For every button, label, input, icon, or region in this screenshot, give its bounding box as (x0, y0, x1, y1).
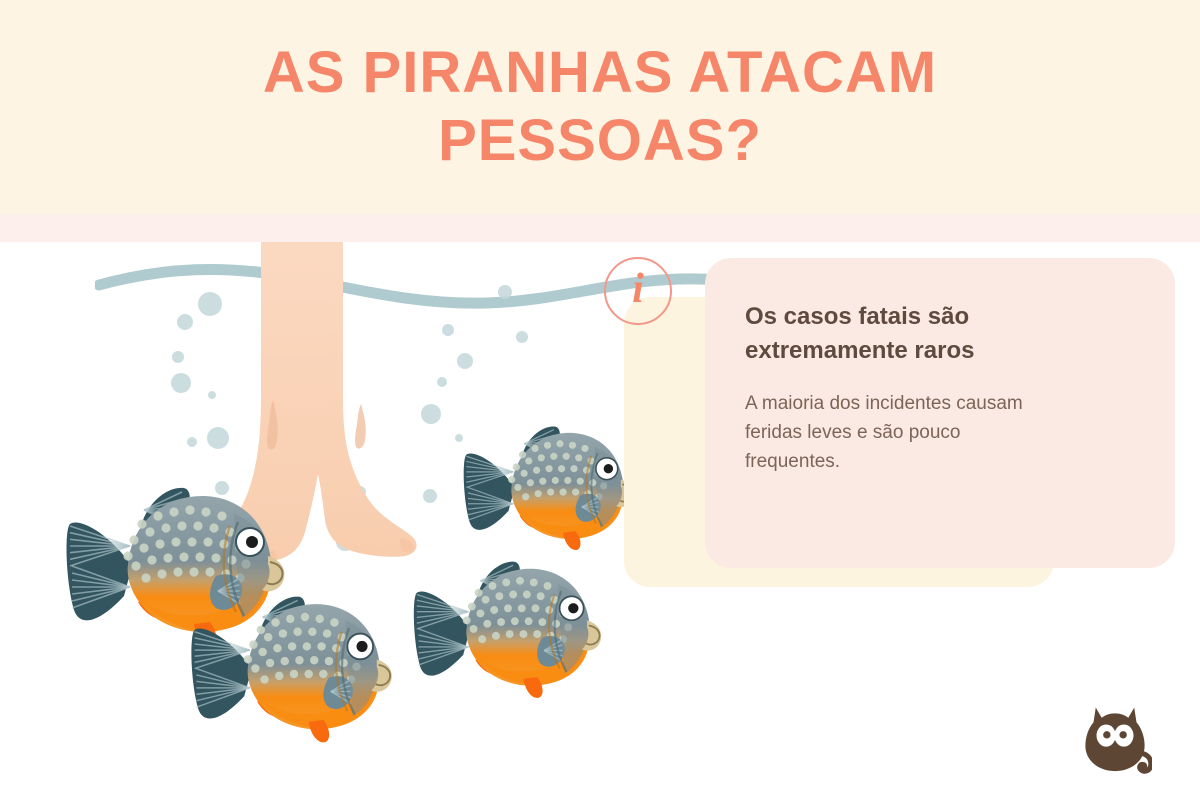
bubble (187, 437, 197, 447)
page-title: AS PIRANHAS ATACAM PESSOAS? (0, 0, 1200, 214)
info-icon: i (604, 257, 672, 325)
page-title-line-1: AS PIRANHAS ATACAM (263, 39, 937, 107)
bubble (516, 331, 528, 343)
cat-logo-icon (1078, 703, 1152, 777)
piranha-bottom-left (185, 580, 424, 769)
infographic-poster: AS PIRANHAS ATACAM PESSOAS? (0, 0, 1200, 800)
bubble (171, 373, 191, 393)
info-icon-glyph: i (604, 257, 672, 325)
info-card-content: Os casos fatais são extremamente raros A… (745, 300, 1055, 477)
page-title-line-2: PESSOAS? (438, 107, 762, 175)
header-band-pink (0, 214, 1200, 242)
piranha-bottom-right (408, 546, 632, 722)
info-card-heading: Os casos fatais são extremamente raros (745, 300, 1055, 368)
bubble (172, 351, 184, 363)
bubble (177, 314, 193, 330)
info-card-body: A maioria dos incidentes causam feridas … (745, 390, 1055, 477)
